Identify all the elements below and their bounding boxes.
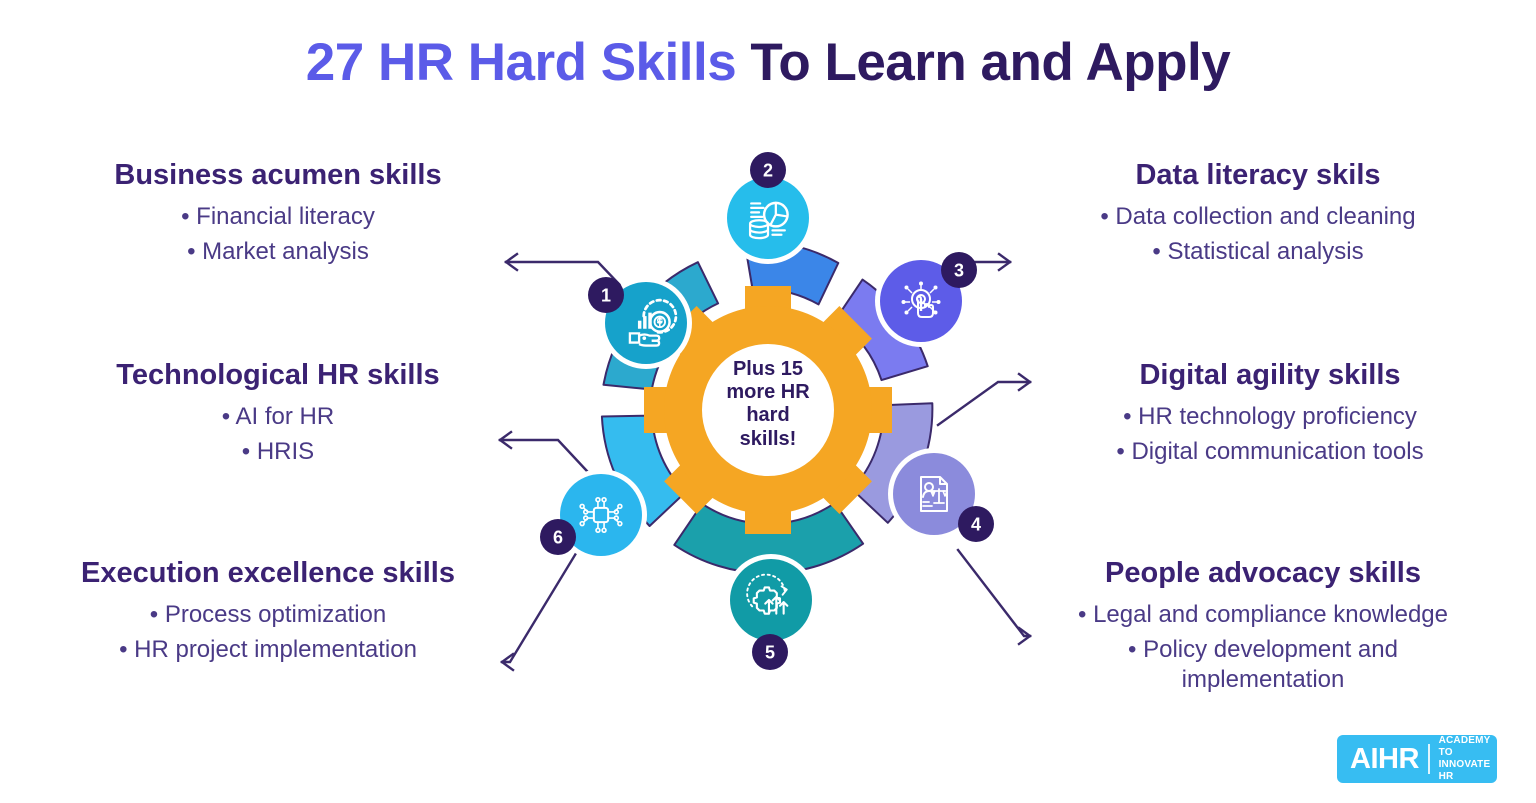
skill-bullet: • HR technology proficiency: [1040, 401, 1500, 433]
skill-bullet: • Digital communication tools: [1040, 436, 1500, 468]
skill-bullet: • Policy development and: [1028, 634, 1498, 666]
aihr-logo[interactable]: AIHR ACADEMY TO INNOVATE HR: [1337, 735, 1497, 783]
node-badge-3: 3: [941, 252, 977, 288]
skill-heading: Digital agility skills: [1040, 358, 1500, 392]
node-badge-2: 2: [750, 152, 786, 188]
node-badge-4: 4: [958, 506, 994, 542]
skill-bullet: • Data collection and cleaning: [1028, 201, 1488, 233]
node-number: 6: [553, 528, 563, 548]
node-number: 3: [954, 261, 964, 281]
skill-bullet: • Financial literacy: [48, 201, 508, 233]
skill-block-execution-excellence: Execution excellence skills • Process op…: [28, 556, 508, 666]
title-dark: To Learn and Apply: [736, 33, 1230, 92]
gear-label-line3: hard: [688, 404, 848, 427]
gear-label-line1: Plus 15: [688, 358, 848, 381]
node-number: 5: [765, 643, 775, 663]
skill-heading: People advocacy skills: [1028, 556, 1498, 590]
skill-heading: Technological HR skills: [48, 358, 508, 392]
skill-bullet: • HR project implementation: [28, 634, 508, 666]
node-badge-1: 1: [588, 277, 624, 313]
skill-heading: Business acumen skills: [48, 158, 508, 192]
skill-bullet: • HRIS: [48, 436, 508, 468]
skill-bullet: implementation: [1028, 664, 1498, 696]
logo-tagline-line2: INNOVATE HR: [1439, 759, 1497, 783]
node-3[interactable]: 3: [875, 252, 977, 347]
skill-bullet: • AI for HR: [48, 401, 508, 433]
node-5[interactable]: 5: [725, 554, 817, 670]
node-number: 1: [601, 286, 611, 306]
gear-label-line4: skills!: [688, 428, 848, 451]
infographic-page: 27 HR Hard Skills To Learn and Apply Bus…: [0, 0, 1536, 803]
skill-block-digital-agility: Digital agility skills • HR technology p…: [1040, 358, 1500, 468]
page-title: 27 HR Hard Skills To Learn and Apply: [0, 34, 1536, 92]
gear-center-label: Plus 15 more HR hard skills!: [688, 358, 848, 451]
gear-label-line2: more HR: [688, 381, 848, 404]
skill-block-business-acumen: Business acumen skills • Financial liter…: [48, 158, 508, 268]
node-badge-5: 5: [752, 634, 788, 670]
skill-block-data-literacy: Data literacy skils • Data collection an…: [1028, 158, 1488, 268]
node-badge-6: 6: [540, 519, 576, 555]
title-accent: 27 HR Hard Skills: [306, 33, 736, 92]
skill-bullet: • Statistical analysis: [1028, 236, 1488, 268]
skill-heading: Execution excellence skills: [28, 556, 508, 590]
logo-tagline-line1: ACADEMY TO: [1439, 735, 1497, 759]
logo-wordmark: AIHR: [1337, 745, 1428, 774]
node-2[interactable]: 2: [722, 152, 814, 264]
node-number: 4: [971, 515, 981, 535]
skill-heading: Data literacy skils: [1028, 158, 1488, 192]
node-number: 2: [763, 161, 773, 181]
logo-tagline: ACADEMY TO INNOVATE HR: [1430, 735, 1497, 782]
skill-bullet: • Process optimization: [28, 599, 508, 631]
node-4[interactable]: 4: [888, 448, 994, 542]
logo-divider: [1428, 744, 1430, 774]
skill-block-people-advocacy: People advocacy skills • Legal and compl…: [1028, 556, 1498, 695]
skill-block-technological-hr: Technological HR skills • AI for HR • HR…: [48, 358, 508, 468]
node-1[interactable]: 1: [588, 277, 692, 369]
skill-bullet: • Legal and compliance knowledge: [1028, 599, 1498, 631]
node-6[interactable]: 6: [540, 469, 647, 561]
skill-bullet: • Market analysis: [48, 236, 508, 268]
